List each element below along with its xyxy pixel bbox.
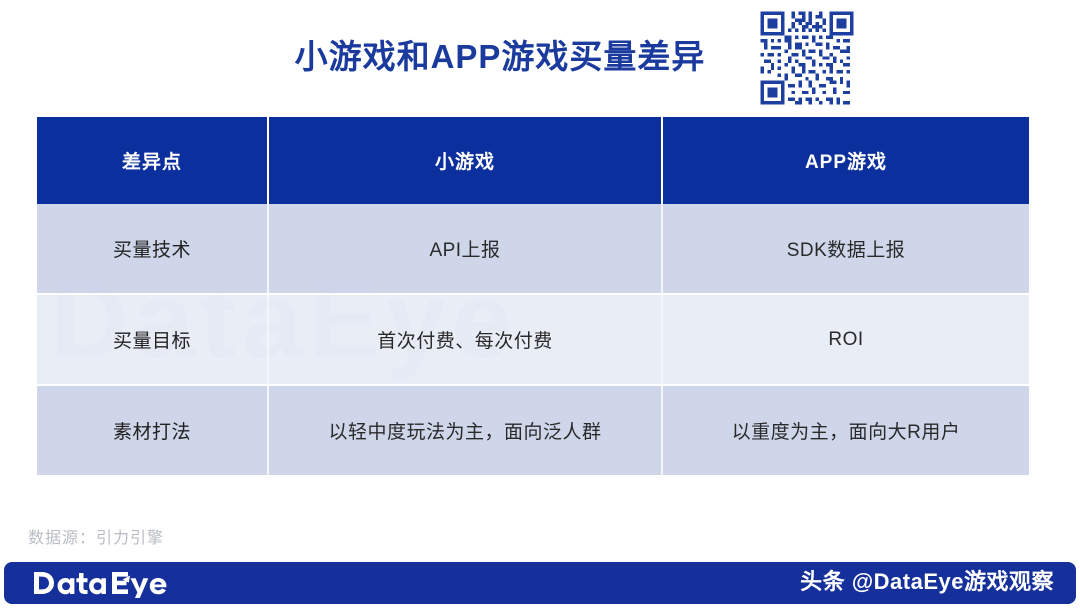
column-header-app-game: APP游戏 — [662, 117, 1029, 204]
cell-app-game: SDK数据上报 — [662, 204, 1029, 294]
row-label: 买量目标 — [37, 294, 268, 385]
column-header-difference-point: 差异点 — [37, 117, 268, 204]
qr-code-icon[interactable] — [748, 8, 866, 108]
cell-mini-game: 首次付费、每次付费 — [268, 294, 662, 385]
table-header-row: 差异点 小游戏 APP游戏 — [37, 117, 1029, 204]
cell-mini-game: API上报 — [268, 204, 662, 294]
comparison-table: 差异点 小游戏 APP游戏 买量技术 API上报 SDK数据上报 买量目标 首次… — [37, 117, 1029, 475]
dataeye-logo — [32, 568, 228, 598]
table-row: 素材打法 以轻中度玩法为主，面向泛人群 以重度为主，面向大R用户 — [37, 385, 1029, 475]
table-row: 买量目标 首次付费、每次付费 ROI — [37, 294, 1029, 385]
cell-app-game: 以重度为主，面向大R用户 — [662, 385, 1029, 475]
social-handle: 头条 @DataEye游戏观察 — [800, 562, 1054, 604]
data-source-note: 数据源：引力引擎 — [28, 524, 164, 548]
row-label: 素材打法 — [37, 385, 268, 475]
table-row: 买量技术 API上报 SDK数据上报 — [37, 204, 1029, 294]
bottom-brand-bar: 头条 @DataEye游戏观察 — [4, 562, 1076, 604]
row-label: 买量技术 — [37, 204, 268, 294]
cell-app-game: ROI — [662, 294, 1029, 385]
cell-mini-game: 以轻中度玩法为主，面向泛人群 — [268, 385, 662, 475]
column-header-mini-game: 小游戏 — [268, 117, 662, 204]
slide-canvas: DataEye 小游戏和APP游戏买量差异 — [0, 0, 1080, 608]
